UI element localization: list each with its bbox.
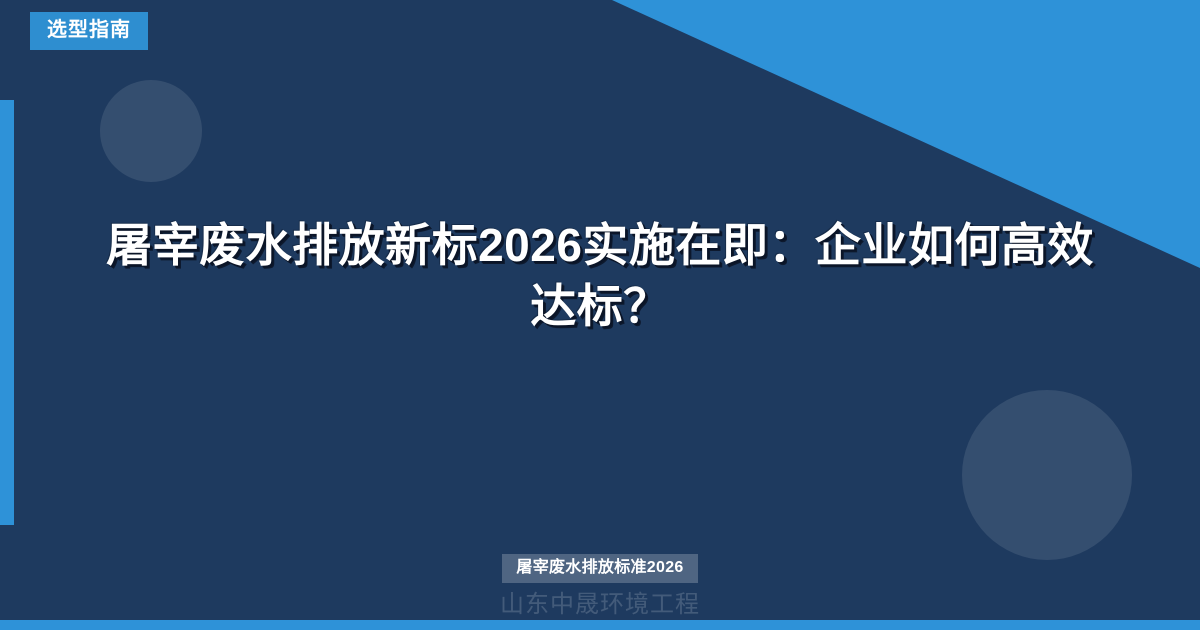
cover-card: 选型指南 屠宰废水排放新标2026实施在即：企业如何高效达标？ 屠宰废水排放标准… — [0, 0, 1200, 630]
page-title: 屠宰废水排放新标2026实施在即：企业如何高效达标？ — [100, 215, 1100, 337]
footer-container: 山东中晟环境工程 — [0, 591, 1200, 620]
category-badge[interactable]: 选型指南 — [30, 12, 148, 50]
bottom-accent-bar — [0, 620, 1200, 630]
brand-watermark: 山东中晟环境工程 — [500, 591, 700, 620]
tag-container: 屠宰废水排放标准2026 — [0, 554, 1200, 583]
decorative-circle-top-left — [100, 80, 202, 182]
keyword-tag[interactable]: 屠宰废水排放标准2026 — [502, 554, 697, 583]
decorative-circle-bottom-right — [962, 390, 1132, 560]
title-container: 屠宰废水排放新标2026实施在即：企业如何高效达标？ — [100, 215, 1100, 337]
left-accent-bar — [0, 100, 14, 525]
